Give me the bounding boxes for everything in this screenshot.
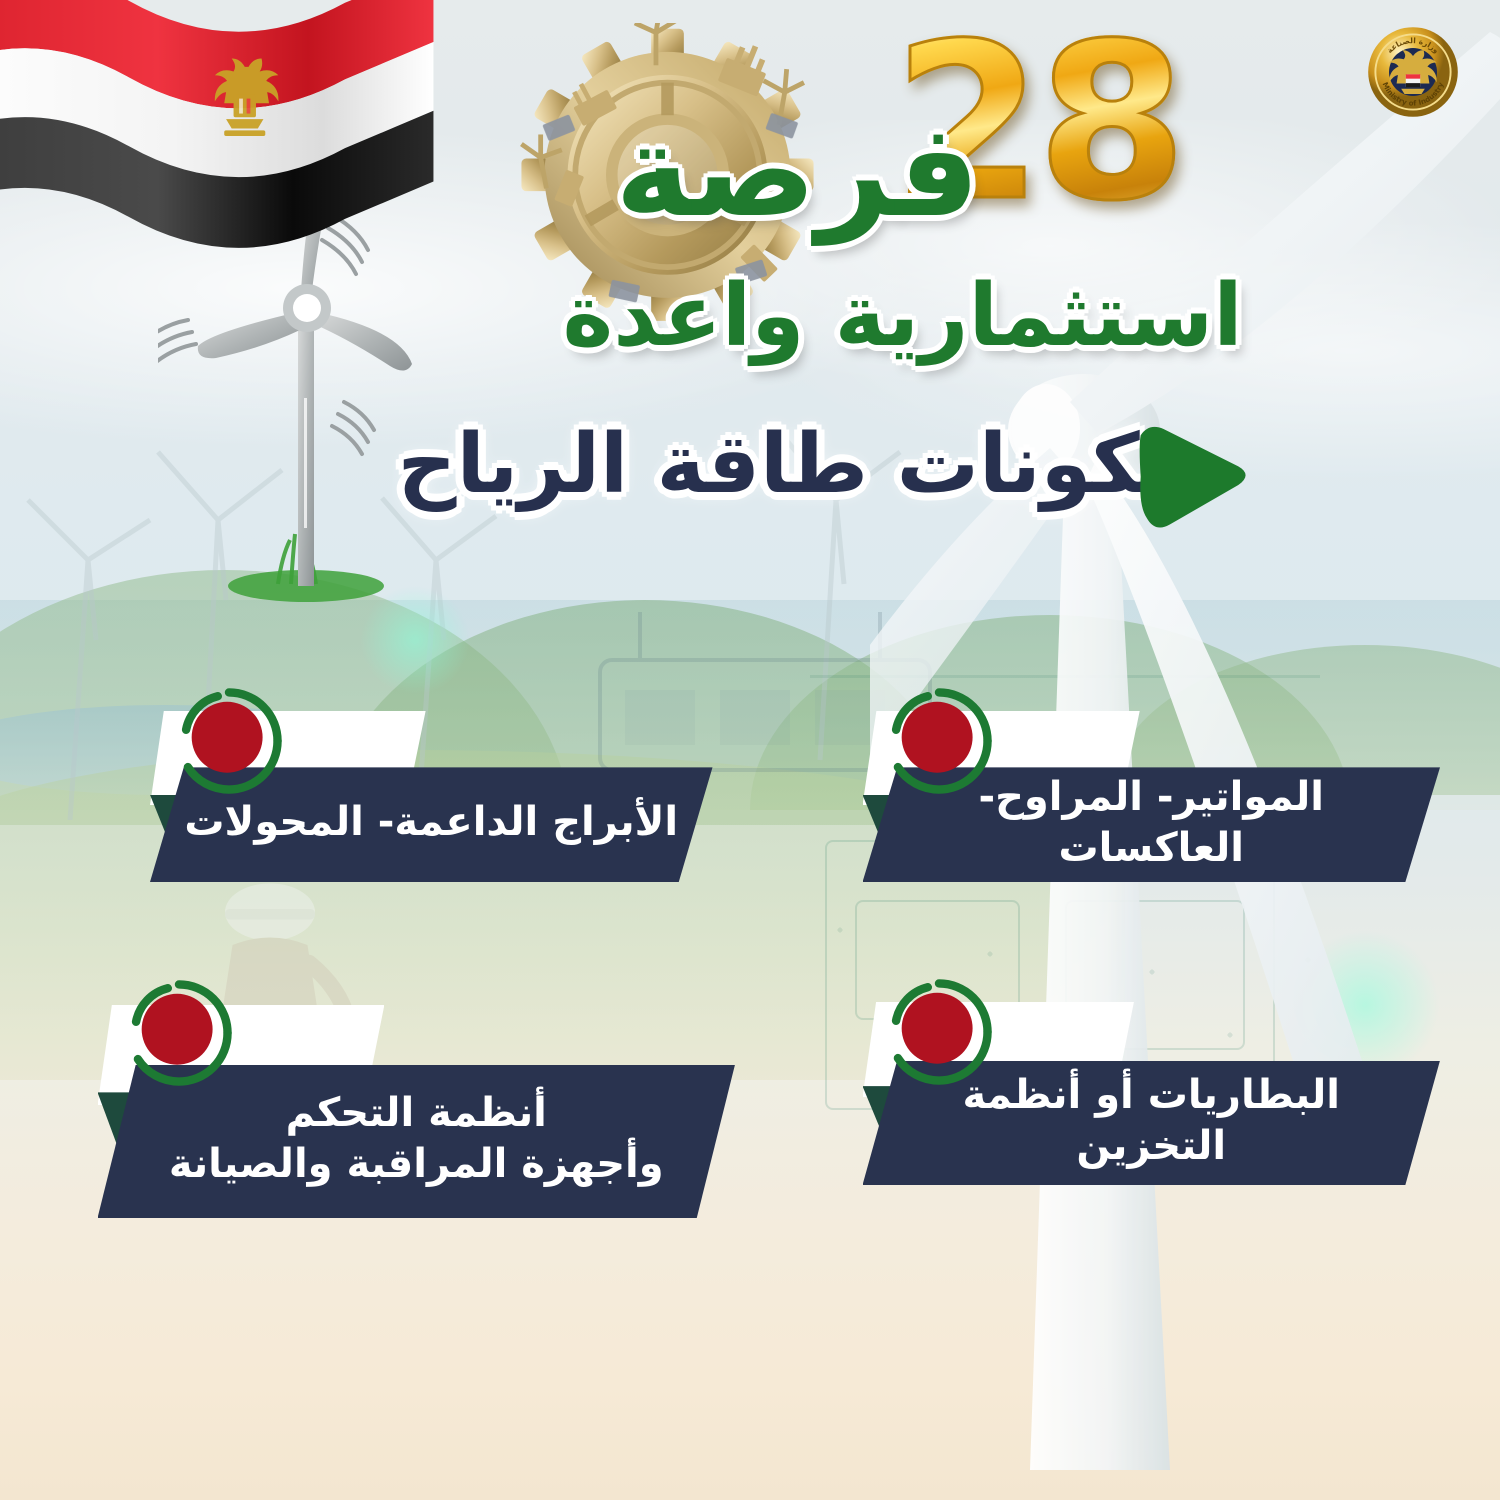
ministry-of-industry-seal: وزارة الصناعة Ministry of Industry — [1365, 24, 1461, 120]
green-play-triangle-icon — [1122, 413, 1257, 541]
egypt-flag — [0, 0, 435, 270]
red-dot-green-ring-icon — [883, 976, 995, 1088]
page-title: مكونات طاقة الرياح — [398, 417, 1191, 512]
card-control-monitoring[interactable]: أنظمة التحكم وأجهزة المراقبة والصيانة — [98, 1005, 736, 1218]
card-label: أنظمة التحكم وأجهزة المراقبة والصيانة — [169, 1088, 664, 1190]
card-motors-fans-inverters[interactable]: المواتير- المراوح- العاكسات — [863, 711, 1441, 882]
headline-forsa: فرصة — [615, 108, 980, 236]
card-label: الأبراج الداعمة- المحولات — [184, 797, 678, 848]
infographic-poster: وزارة الصناعة Ministry of Industry — [0, 0, 1500, 1500]
red-dot-green-ring-icon — [123, 977, 235, 1089]
card-batteries-storage[interactable]: البطاريات أو أنظمة التخزين — [863, 1002, 1441, 1185]
red-dot-green-ring-icon — [173, 685, 285, 797]
headline-subtitle: استثمارية واعدة — [563, 273, 1243, 359]
card-towers-transformers[interactable]: الأبراج الداعمة- المحولات — [150, 711, 713, 882]
red-dot-green-ring-icon — [883, 685, 995, 797]
